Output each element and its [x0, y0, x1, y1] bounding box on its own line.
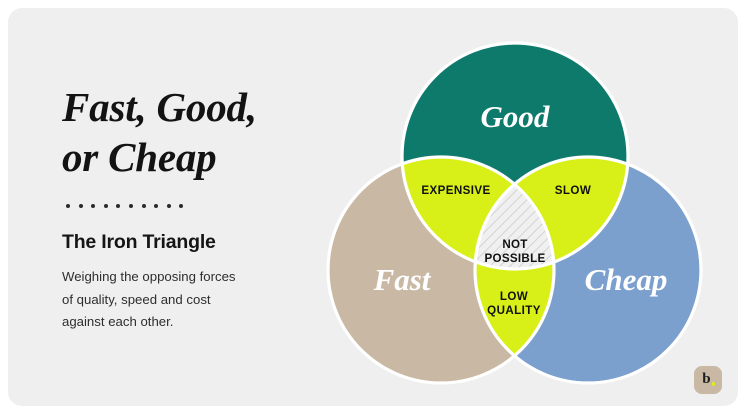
- brand-logo: b: [694, 366, 722, 394]
- page-title: Fast, Good, or Cheap: [62, 82, 332, 182]
- venn-diagram-svg: Good Fast Cheap EXPENSIVE SLOW LOWQUALIT…: [308, 22, 728, 402]
- circle-label-fast: Fast: [373, 262, 432, 297]
- subheading: The Iron Triangle: [62, 231, 332, 254]
- description-text: Weighing the opposing forces of quality,…: [62, 266, 332, 334]
- logo-accent-dot-icon: [712, 382, 715, 385]
- dotted-divider-icon: [66, 204, 332, 209]
- circle-label-cheap: Cheap: [585, 262, 668, 297]
- pair-label-slow: SLOW: [555, 184, 591, 197]
- circle-label-good: Good: [481, 99, 550, 134]
- venn-diagram: Good Fast Cheap EXPENSIVE SLOW LOWQUALIT…: [308, 22, 728, 402]
- text-column: Fast, Good, or Cheap The Iron Triangle W…: [62, 82, 332, 334]
- logo-glyph: b: [702, 372, 710, 387]
- slide-card: Fast, Good, or Cheap The Iron Triangle W…: [8, 8, 738, 406]
- pair-label-expensive: EXPENSIVE: [421, 184, 490, 197]
